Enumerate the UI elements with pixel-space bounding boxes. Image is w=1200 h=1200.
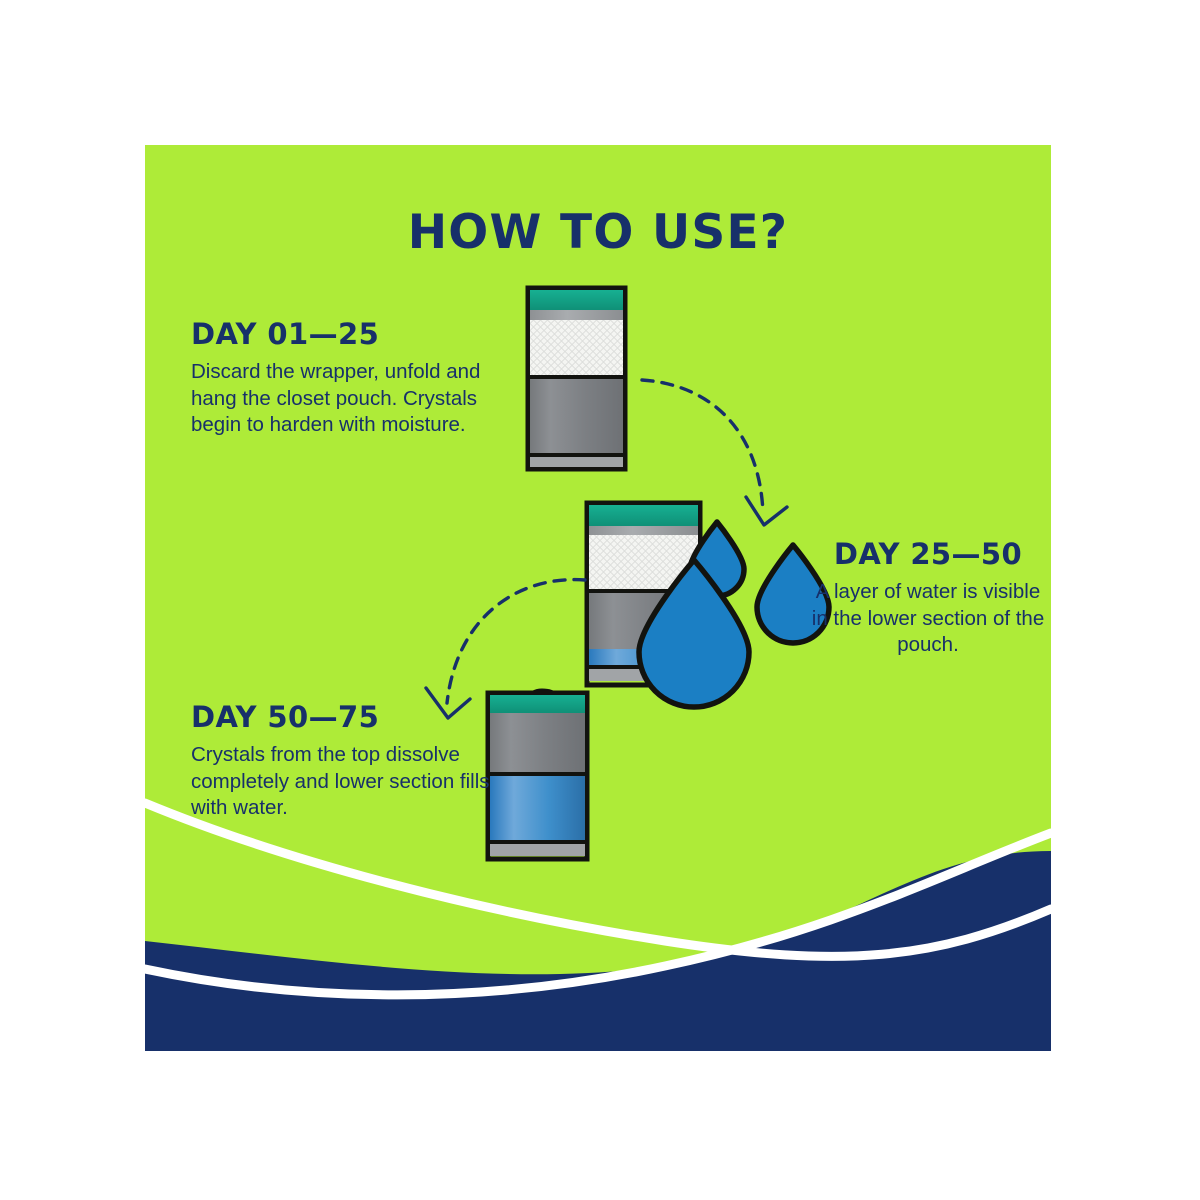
teal-cap [530, 290, 623, 310]
step-heading: DAY 01—25 [191, 317, 521, 351]
bottom-wave-decoration [145, 791, 1051, 1051]
gray-footer [530, 457, 623, 467]
pouch-stage-1 [528, 288, 625, 469]
infographic-panel: HOW TO USE? [145, 145, 1051, 1051]
teal-cap [490, 695, 585, 713]
step-heading: DAY 25—50 [805, 537, 1051, 571]
step-body: Crystals from the top dissolve completel… [191, 742, 491, 822]
screenshot-canvas: HOW TO USE? [0, 0, 1200, 1200]
arrowhead [746, 497, 787, 525]
white-crystal-mesh [530, 320, 623, 377]
step-body: A layer of water is visible in the lower… [805, 579, 1051, 659]
step-block-day-01-25: DAY 01—25 Discard the wrapper, unfold an… [191, 317, 521, 439]
gray-strip [530, 310, 623, 320]
step-block-day-25-50: DAY 25—50 A layer of water is visible in… [805, 537, 1051, 659]
step-heading: DAY 50—75 [191, 700, 491, 734]
step-body: Discard the wrapper, unfold and hang the… [191, 359, 521, 439]
teal-cap [589, 505, 698, 526]
gray-lower [530, 379, 623, 455]
gray-strip [589, 526, 698, 535]
step-block-day-50-75: DAY 50—75 Crystals from the top dissolve… [191, 700, 491, 822]
gray-upper [490, 713, 585, 774]
